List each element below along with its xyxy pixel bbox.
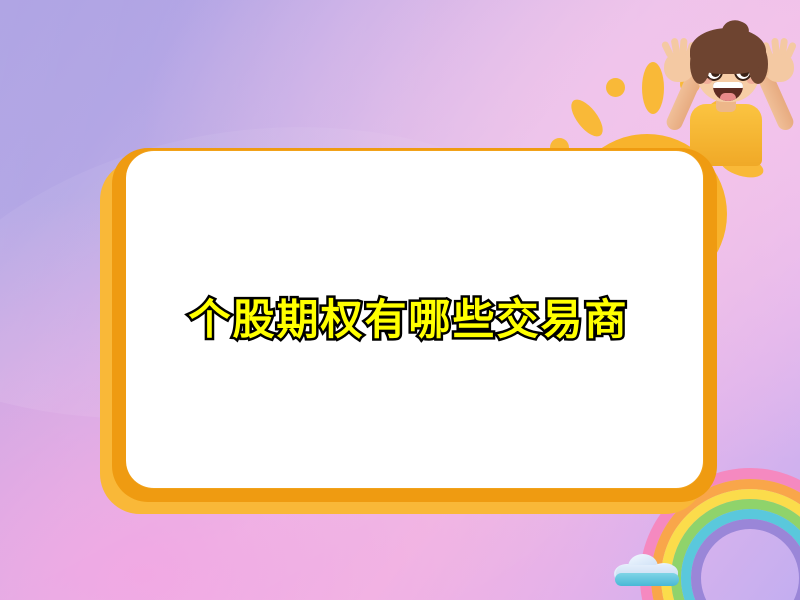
page-title: 个股期权有哪些交易商 — [188, 286, 628, 347]
boy-right-hand — [764, 52, 794, 82]
sun-ray — [566, 95, 609, 142]
slide-canvas: 个股期权有哪些交易商 — [0, 0, 800, 600]
sun-ray — [606, 78, 625, 97]
cartoon-boy-icon — [660, 12, 800, 162]
content-card: 个股期权有哪些交易商 — [126, 150, 704, 489]
cloud-icon — [614, 552, 680, 586]
